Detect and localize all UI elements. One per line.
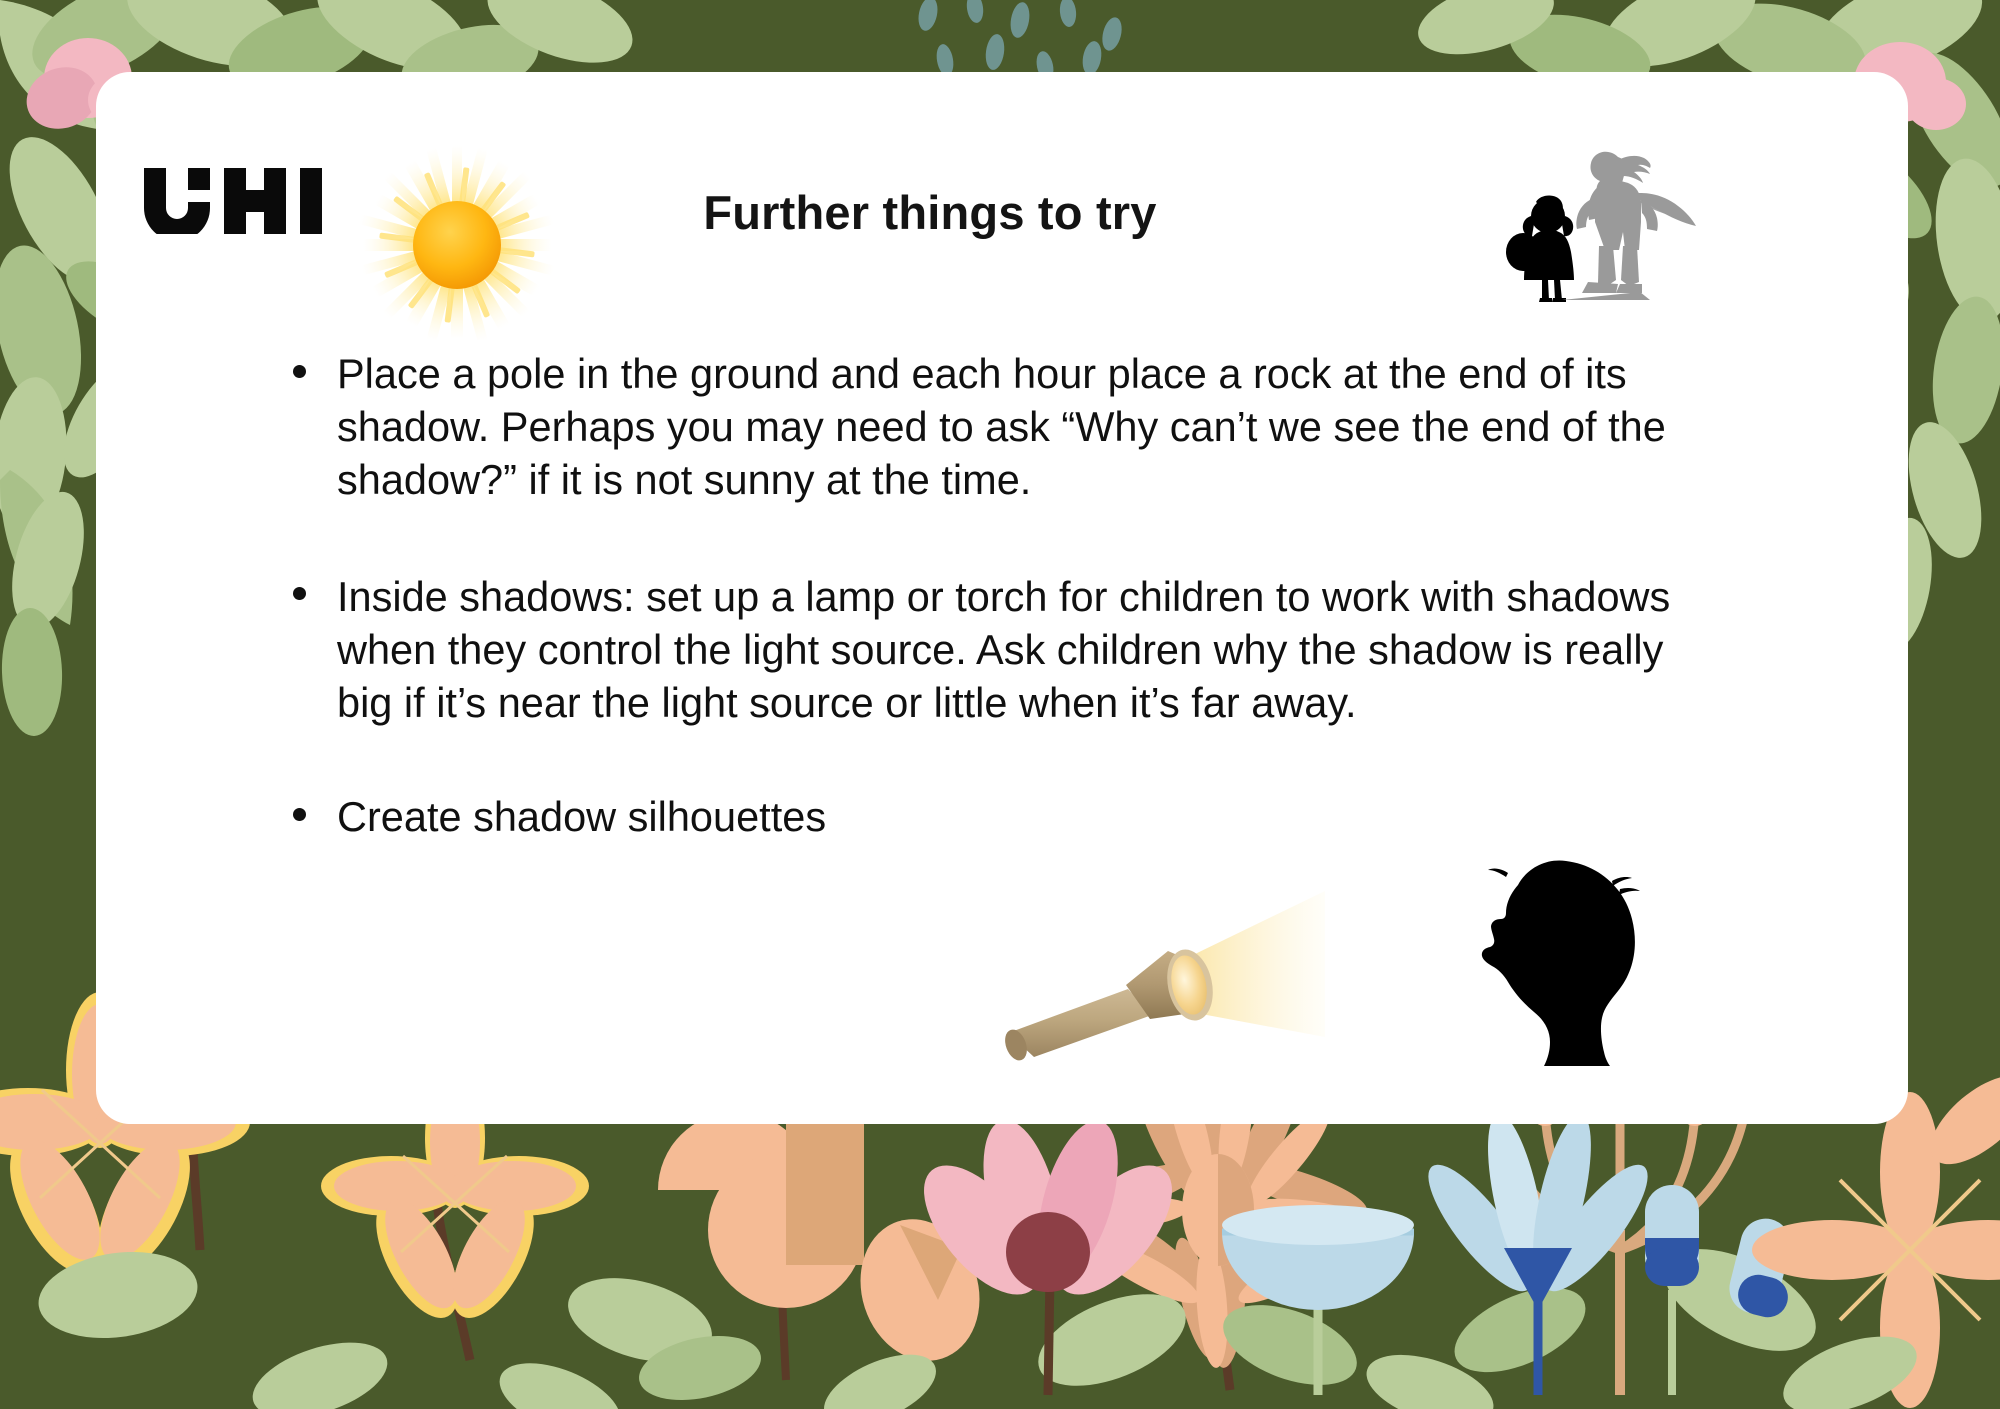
flower-icon [1645,1185,1796,1395]
girl-with-superhero-shadow-icon [1500,142,1720,302]
list-item: Place a pole in the ground and each hour… [275,348,1725,507]
bullet-dot [293,365,306,378]
page-title: Further things to try [560,185,1300,240]
sun-icon [352,140,562,340]
flashlight-icon [1000,885,1330,1075]
superhero-shadow [1576,152,1696,293]
flower-icon [903,1112,1193,1395]
flower-icon [658,1112,864,1380]
bottom-band [0,1160,2000,1409]
bullet-text: Place a pole in the ground and each hour… [337,348,1725,507]
bullet-dot [293,808,306,821]
flower-icon [843,1204,998,1377]
list-item: Create shadow silhouettes [275,791,1725,844]
bullet-list: Place a pole in the ground and each hour… [275,348,1725,844]
flower-icon [1413,1109,1663,1395]
child-head-silhouette-icon [1470,855,1645,1070]
slide-root: Further things to try [0,0,2000,1409]
bullet-dot [293,587,306,600]
bullet-text: Create shadow silhouettes [337,791,1725,844]
flower-icon [1222,1205,1414,1395]
list-item: Inside shadows: set up a lamp or torch f… [275,571,1725,730]
uhi-logo [142,168,322,234]
girl-silhouette [1506,195,1574,302]
bullet-text: Inside shadows: set up a lamp or torch f… [337,571,1725,730]
